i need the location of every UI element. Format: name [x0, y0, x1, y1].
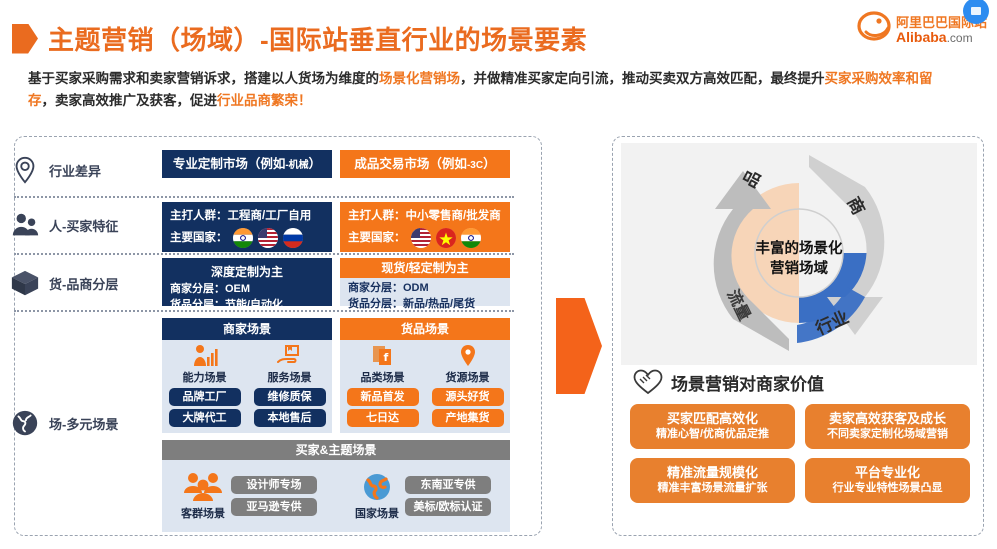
goods-scene-block: 货品场景 f 品类场景 新品首发 七日达 货源场景 源头好货 产地集货 [340, 318, 510, 433]
hand-box-icon [277, 344, 303, 368]
scene-col-capability: 能力场景 品牌工厂 大牌代工 [162, 344, 247, 427]
subtitle-part-1: 场景化营销场 [379, 71, 460, 86]
slide-root: 阿里巴巴国际站 Alibaba.com 主题营销（场域）-国际站垂直行业的场景要… [0, 0, 997, 549]
group-people-icon [181, 471, 225, 505]
orange-title-small: -3C [467, 160, 483, 171]
navy-market-title: 专业定制市场（例如-机械） [162, 150, 332, 176]
scene-name: 服务场景 [268, 369, 312, 385]
orange-market-header[interactable]: 成品交易市场（例如-3C） [340, 150, 510, 178]
sidebar-item-buyer[interactable]: 人-买家特征 [10, 210, 150, 240]
scene-pill[interactable]: 产地集货 [432, 409, 504, 427]
flag-vietnam-icon [436, 228, 456, 248]
sidebar-label: 人-买家特征 [49, 216, 118, 235]
goods-scene-header: 货品场景 [340, 318, 510, 340]
flag-russia-icon [283, 228, 303, 248]
navy-buyer-group: 主打人群：工程商/工厂自用 [162, 208, 332, 225]
person-chart-icon [192, 344, 218, 368]
orange-title-tail: ） [483, 157, 496, 171]
value-section-header: 场景营销对商家价值 [633, 369, 824, 395]
cycle-diagram: 品 商 流量 行业 丰富的场景化 营销场域 [621, 143, 977, 365]
navy-buyer-block: 主打人群：工程商/工厂自用 主要国家： [162, 202, 332, 252]
row-divider [14, 253, 514, 255]
kv-val: 工程商/工厂自用 [228, 210, 312, 222]
value-cards: 买家匹配高效化精准心智/优商优品定推卖家高效获客及成长不同卖家定制化场域营销精准… [630, 404, 970, 503]
value-card-desc: 行业专业特性场景凸显 [809, 481, 966, 496]
goods-scene-body: f 品类场景 新品首发 七日达 货源场景 源头好货 产地集货 [340, 340, 510, 433]
value-card[interactable]: 卖家高效获客及成长不同卖家定制化场域营销 [805, 404, 970, 449]
buyer-pill[interactable]: 亚马逊专供 [231, 498, 317, 516]
orange-market-title: 成品交易市场（例如-3C） [340, 150, 510, 176]
subtitle: 基于买家采购需求和卖家营销诉求，搭建以人货场为维度的场景化营销场，并做精准买家定… [28, 68, 940, 112]
sidebar-item-industry[interactable]: 行业差异 [10, 155, 150, 185]
orange-country-row: 主要国家： [340, 228, 510, 248]
kv-key: 主打人群： [170, 210, 228, 222]
value-card[interactable]: 平台专业化行业专业特性场景凸显 [805, 458, 970, 503]
orange-goods-title: 现货/轻定制为主 [340, 258, 510, 278]
buyer-label: 客群场景 [181, 505, 225, 521]
value-card-title: 精准流量规模化 [634, 464, 791, 481]
orange-goods-block: 现货/轻定制为主 商家分层：ODM 货品分层：新品/热品/尾货 [340, 258, 510, 306]
logo-en-tld: .com [947, 31, 973, 45]
buyer-theme-body: 客群场景 设计师专场 亚马逊专供 国家场景 东南亚专供 美标/欧标认 [162, 460, 510, 532]
buyer-pill[interactable]: 东南亚专供 [405, 476, 491, 494]
cycle-center-line1: 丰富的场景化 [621, 239, 977, 259]
scene-col-service: 服务场景 维修质保 本地售后 [247, 344, 332, 427]
value-card-title: 卖家高效获客及成长 [809, 410, 966, 427]
scene-pill[interactable]: 七日达 [347, 409, 419, 427]
scene-col-category: f 品类场景 新品首发 七日达 [340, 344, 425, 427]
kv-key: 主要国家： [170, 230, 228, 247]
buyer-icon-wrap: 客群场景 [181, 471, 225, 521]
flag-usa-icon [258, 228, 278, 248]
alibaba-logo: 阿里巴巴国际站 Alibaba.com [856, 4, 991, 52]
row-divider [14, 196, 514, 198]
value-section-title: 场景营销对商家价值 [671, 370, 824, 395]
orange-buyer-group: 主打人群：中小零售商/批发商 [340, 208, 510, 225]
navy-title-main: 专业定制市场（例如 [173, 157, 286, 171]
scene-pill[interactable]: 品牌工厂 [169, 388, 241, 406]
scene-name: 能力场景 [183, 369, 227, 385]
merchant-scene-body: 能力场景 品牌工厂 大牌代工 服务场景 维修质保 本地售后 [162, 340, 332, 433]
value-card-title: 平台专业化 [809, 464, 966, 481]
sidebar-label: 货-品商分层 [49, 274, 118, 293]
value-card-desc: 精准心智/优商优品定推 [634, 427, 791, 442]
buyer-pill[interactable]: 设计师专场 [231, 476, 317, 494]
scene-pill[interactable]: 新品首发 [347, 388, 419, 406]
cycle-center-text: 丰富的场景化 营销场域 [621, 239, 977, 279]
scene-name: 品类场景 [361, 369, 405, 385]
buyer-pill-col: 东南亚专供 美标/欧标认证 [405, 476, 491, 516]
navy-market-header[interactable]: 专业定制市场（例如-机械） [162, 150, 332, 178]
buyer-pill[interactable]: 美标/欧标认证 [405, 498, 491, 516]
orange-goods-body: 商家分层：ODM 货品分层：新品/热品/尾货 [340, 278, 510, 306]
navy-title-tail: ） [309, 157, 322, 171]
scene-name: 货源场景 [446, 369, 490, 385]
box-icon [10, 268, 40, 298]
buyer-theme-block: 买家&主题场景 客群场景 设计师专场 亚马逊专供 [162, 440, 510, 532]
merchant-scene-header: 商家场景 [162, 318, 332, 340]
buyer-cell-country: 国家场景 东南亚专供 美标/欧标认证 [336, 471, 510, 521]
navy-goods-line2: 货品分层：节能/自动化 [162, 297, 332, 313]
sidebar-label: 场-多元场景 [49, 414, 118, 433]
orange-goods-line2: 货品分层：新品/热品/尾货 [340, 296, 510, 312]
logo-en-bold: Alibaba [896, 29, 947, 45]
buyer-label: 国家场景 [355, 505, 399, 521]
buyer-pill-col: 设计师专场 亚马逊专供 [231, 476, 317, 516]
orange-buyer-block: 主打人群：中小零售商/批发商 主要国家： [340, 202, 510, 252]
navy-title-small: -机械 [285, 160, 308, 171]
value-card-title: 买家匹配高效化 [634, 410, 791, 427]
scene-pill[interactable]: 本地售后 [254, 409, 326, 427]
svg-text:f: f [383, 351, 388, 364]
orange-goods-line1: 商家分层：ODM [340, 280, 510, 296]
kv-key: 主打人群： [348, 210, 406, 222]
world-globe-icon [360, 471, 394, 505]
title-label: 主题营销（场域）-国际站垂直行业的场景要素 [48, 20, 587, 57]
subtitle-part-0: 基于买家采购需求和卖家营销诉求，搭建以人货场为维度的 [28, 71, 379, 86]
handshake-icon [633, 369, 663, 395]
cycle-center-line2: 营销场域 [621, 259, 977, 279]
value-card-desc: 精准丰富场景流量扩张 [634, 481, 791, 496]
kv-val: 中小零售商/批发商 [406, 210, 501, 222]
scene-pill[interactable]: 源头好货 [432, 388, 504, 406]
source-pin-icon [455, 344, 481, 368]
flag-india-icon [461, 228, 481, 248]
flag-usa-icon [411, 228, 431, 248]
logo-en-text: Alibaba.com [896, 29, 973, 45]
category-card-icon: f [370, 344, 396, 368]
flow-arrow-icon [556, 298, 602, 394]
navy-goods-line1: 商家分层：OEM [162, 281, 332, 297]
value-card[interactable]: 买家匹配高效化精准心智/优商优品定推 [630, 404, 795, 449]
scene-pill[interactable]: 大牌代工 [169, 409, 241, 427]
title-arrow-icon [12, 24, 38, 54]
navy-goods-title: 深度定制为主 [162, 263, 332, 281]
scene-col-source: 货源场景 源头好货 产地集货 [425, 344, 510, 427]
buyer-icon-wrap: 国家场景 [355, 471, 399, 521]
kv-key: 主要国家： [348, 230, 406, 247]
navy-goods-block: 深度定制为主 商家分层：OEM 货品分层：节能/自动化 [162, 258, 332, 306]
location-pin-icon [10, 155, 40, 185]
value-card[interactable]: 精准流量规模化精准丰富场景流量扩张 [630, 458, 795, 503]
buyer-cell-audience: 客群场景 设计师专场 亚马逊专供 [162, 471, 336, 521]
sidebar-label: 行业差异 [49, 161, 101, 180]
buyer-theme-header: 买家&主题场景 [162, 440, 510, 460]
globe-icon [10, 408, 40, 438]
subtitle-part-2: ，并做精准买家定向引流，推动买卖双方高效匹配，最终提升 [460, 71, 825, 86]
sidebar-item-scenes[interactable]: 场-多元场景 [10, 408, 150, 438]
subtitle-part-5: 行业品商繁荣！ [217, 93, 312, 108]
scene-pill[interactable]: 维修质保 [254, 388, 326, 406]
subtitle-part-4: ，卖家高效推广及获客，促进 [42, 93, 218, 108]
orange-title-main: 成品交易市场（例如 [354, 157, 467, 171]
page-title: 主题营销（场域）-国际站垂直行业的场景要素 [12, 20, 587, 57]
flag-india-icon [233, 228, 253, 248]
navy-country-row: 主要国家： [162, 228, 332, 248]
people-icon [10, 210, 40, 240]
value-card-desc: 不同卖家定制化场域营销 [809, 427, 966, 442]
sidebar-item-goods[interactable]: 货-品商分层 [10, 268, 150, 298]
merchant-scene-block: 商家场景 能力场景 品牌工厂 大牌代工 [162, 318, 332, 433]
